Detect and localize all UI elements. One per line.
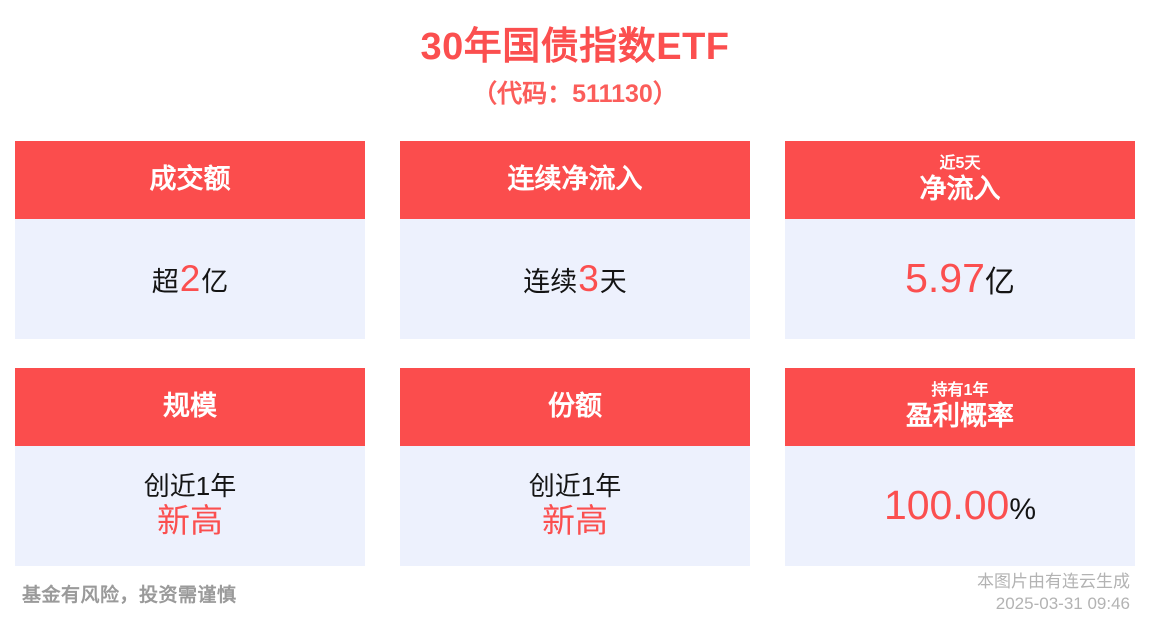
page-title: 30年国债指数ETF (0, 24, 1150, 72)
stat-card-grid: 成交额超2亿连续净流入连续3天近5天净流入5.97亿规模创近1年新高份额创近1年… (15, 141, 1135, 566)
credit-timestamp: 2025-03-31 09:46 (977, 593, 1130, 615)
stat-card: 近5天净流入5.97亿 (785, 141, 1135, 339)
stat-card-value: 100.00% (884, 482, 1036, 529)
stat-card-header: 成交额 (15, 141, 365, 219)
credit-block: 本图片由有连云生成 2025-03-31 09:46 (977, 571, 1130, 615)
stat-card-title: 规模 (163, 391, 217, 422)
stat-card-body: 超2亿 (15, 219, 365, 339)
stat-card-body: 5.97亿 (785, 219, 1135, 339)
stat-card-value: 创近1年新高 (529, 471, 621, 542)
stat-card-value-part: 亿 (985, 266, 1015, 301)
stat-card-header: 持有1年盈利概率 (785, 368, 1135, 446)
stat-card-value: 超2亿 (152, 258, 229, 301)
stat-card-kicker: 持有1年 (932, 382, 989, 400)
stat-card-header: 份额 (400, 368, 750, 446)
stat-card: 份额创近1年新高 (400, 368, 750, 566)
stat-card-body: 创近1年新高 (15, 446, 365, 566)
stat-card-title: 份额 (548, 391, 602, 422)
stat-card-value: 创近1年新高 (144, 471, 236, 542)
stat-card-kicker: 近5天 (940, 155, 981, 173)
footer: 基金有风险，投资需谨慎 本图片由有连云生成 2025-03-31 09:46 (0, 562, 1150, 632)
page-header: 30年国债指数ETF （代码：511130） (0, 0, 1150, 110)
stat-card-value-part: 连续 (523, 267, 577, 298)
stat-card-header: 近5天净流入 (785, 141, 1135, 219)
stat-card-value-bottom: 新高 (144, 502, 236, 541)
stat-card: 连续净流入连续3天 (400, 141, 750, 339)
stat-card-value: 5.97亿 (905, 255, 1015, 302)
stat-card: 规模创近1年新高 (15, 368, 365, 566)
stat-card-title: 净流入 (920, 174, 1001, 205)
page-subtitle-code: （代码：511130） (0, 78, 1150, 111)
stat-card-value-part: % (1009, 493, 1036, 528)
stat-card-body: 100.00% (785, 446, 1135, 566)
stat-card-value-top: 创近1年 (529, 471, 621, 502)
stat-card-value-bottom: 新高 (529, 502, 621, 541)
stat-card-value-part: 天 (600, 267, 627, 298)
stat-card-header: 连续净流入 (400, 141, 750, 219)
stat-card: 成交额超2亿 (15, 141, 365, 339)
stat-card-body: 连续3天 (400, 219, 750, 339)
stat-card-value-top: 创近1年 (144, 471, 236, 502)
stat-card-header: 规模 (15, 368, 365, 446)
stat-card-value-part: 100.00 (884, 482, 1009, 529)
stat-card-title: 成交额 (150, 164, 231, 195)
stat-card-value-part: 超 (152, 267, 179, 298)
stat-card-value-part: 2 (179, 258, 202, 301)
stat-card-body: 创近1年新高 (400, 446, 750, 566)
stat-card-title: 盈利概率 (906, 401, 1014, 432)
stat-card-value-part: 亿 (201, 267, 228, 298)
stat-card: 持有1年盈利概率100.00% (785, 368, 1135, 566)
stat-card-value-part: 3 (577, 258, 600, 301)
stat-card-value: 连续3天 (523, 258, 627, 301)
stat-card-value-part: 5.97 (905, 255, 985, 302)
risk-disclaimer: 基金有风险，投资需谨慎 (22, 580, 237, 607)
credit-source: 本图片由有连云生成 (977, 571, 1130, 593)
stat-card-title: 连续净流入 (508, 164, 643, 195)
